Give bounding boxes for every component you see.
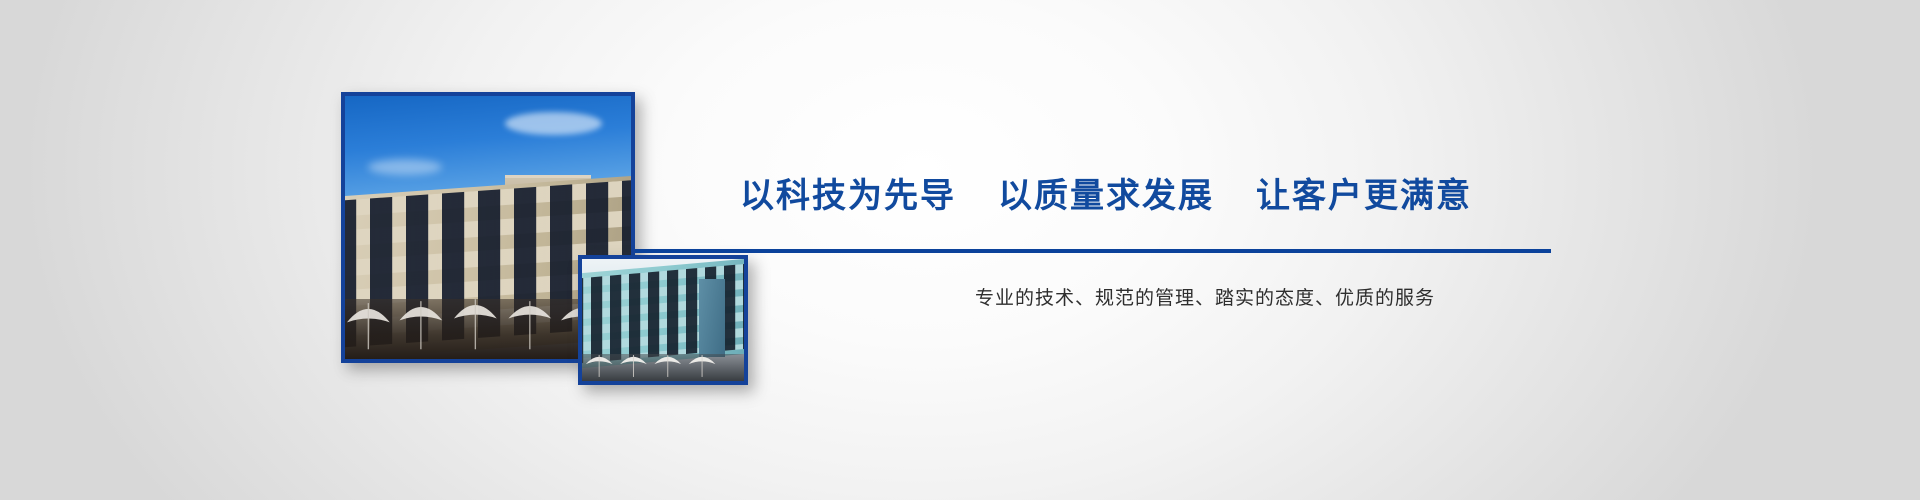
headline-segment-3: 让客户更满意 (1256, 168, 1472, 217)
headline-segment-1: 以科技为先导 (740, 168, 956, 217)
headline: 以科技为先导以质量求发展让客户更满意 (740, 168, 1472, 217)
subtitle: 专业的技术、规范的管理、踏实的态度、优质的服务 (975, 283, 1435, 310)
headline-segment-2: 以质量求发展 (998, 168, 1214, 217)
promo-banner: 以科技为先导以质量求发展让客户更满意 专业的技术、规范的管理、踏实的态度、优质的… (0, 0, 1920, 500)
divider-rule (635, 249, 1551, 253)
text-content: 以科技为先导以质量求发展让客户更满意 专业的技术、规范的管理、踏实的态度、优质的… (0, 0, 1920, 500)
